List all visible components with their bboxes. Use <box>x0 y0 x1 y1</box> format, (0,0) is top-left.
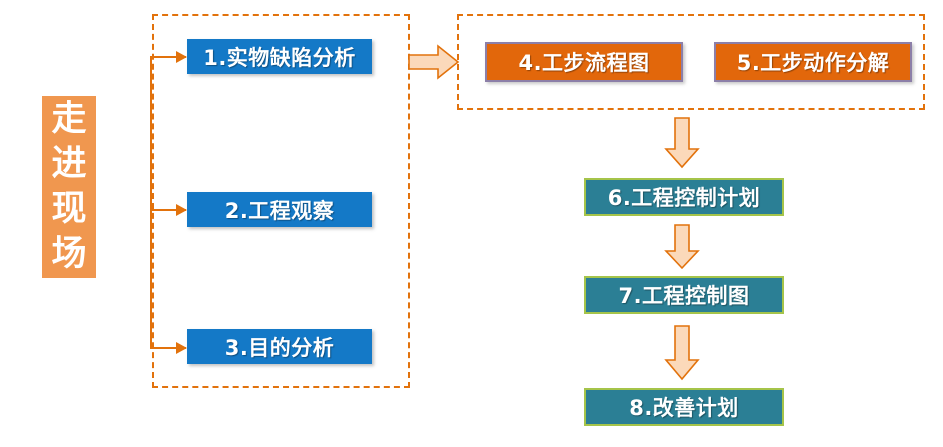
feed-spine-line <box>150 56 152 348</box>
arrow-down-icon-2 <box>664 224 700 270</box>
process-node-2[interactable]: 2.工程观察 <box>187 192 372 227</box>
feed-arrow-to-node-1 <box>150 56 186 58</box>
vertical-banner-title: 走 进 现 场 <box>42 96 96 278</box>
process-node-5[interactable]: 5.工步动作分解 <box>714 42 912 82</box>
arrow-down-icon-3 <box>664 325 700 381</box>
feed-arrow-to-node-3 <box>150 347 186 349</box>
process-node-4[interactable]: 4.工步流程图 <box>485 42 683 82</box>
process-node-3[interactable]: 3.目的分析 <box>187 329 372 364</box>
process-node-1[interactable]: 1.实物缺陷分析 <box>187 39 372 74</box>
diagram-canvas: 走 进 现 场 1.实物缺陷分析 2.工程观察 3.目的分析 4.工步流程图 5… <box>0 0 943 447</box>
banner-char-2: 进 <box>51 142 86 187</box>
process-node-7[interactable]: 7.工程控制图 <box>584 276 784 314</box>
banner-char-4: 场 <box>51 232 86 277</box>
banner-char-1: 走 <box>51 97 86 142</box>
arrow-down-icon-1 <box>664 117 700 169</box>
process-node-8[interactable]: 8.改善计划 <box>584 388 784 426</box>
feed-arrow-to-node-2 <box>150 209 186 211</box>
process-node-6[interactable]: 6.工程控制计划 <box>584 178 784 216</box>
banner-char-3: 现 <box>51 187 86 232</box>
arrow-right-icon <box>408 44 460 80</box>
